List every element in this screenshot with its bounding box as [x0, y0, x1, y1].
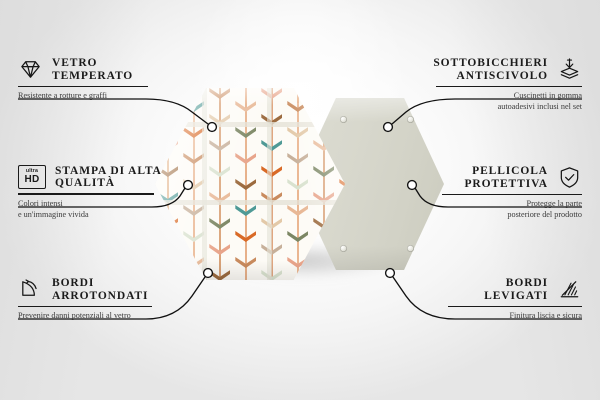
leader-endpoint-vetro-temperato — [208, 123, 217, 132]
callout-header: ultra HD STAMPA DI ALTA QUALITÀ — [18, 165, 154, 189]
callout-subtitle: Cuscinetti in gomma autoadesivi inclusi … — [436, 90, 582, 112]
callout-title-line2: TEMPERATO — [52, 70, 133, 82]
ultra-hd-big-label: HD — [24, 175, 39, 185]
callout-titles: SOTTOBICCHIERI ANTISCIVOLO — [433, 57, 548, 81]
callout-bordi-levigati: BORDI LEVIGATI Finitura liscia e sicura — [448, 277, 582, 321]
callout-titles: BORDI LEVIGATI — [484, 277, 548, 301]
callout-title-line1: SOTTOBICCHIERI — [433, 57, 548, 69]
callout-title-line1: STAMPA DI ALTA — [55, 165, 162, 177]
leader-endpoint-bordi-arrotondati — [204, 269, 213, 278]
callout-title-line2: LEVIGATI — [484, 290, 548, 302]
shield-check-icon — [557, 165, 582, 190]
callout-header: VETRO TEMPERATO — [18, 57, 148, 82]
callout-subtitle: Protegge la parte posteriore del prodott… — [442, 198, 582, 220]
callout-title-line1: VETRO — [52, 57, 133, 69]
leader-endpoint-pellicola — [408, 181, 417, 190]
callout-rule — [448, 306, 582, 307]
leader-endpoint-bordi-levigati — [386, 269, 395, 278]
ultra-hd-badge-icon: ultra HD — [18, 165, 46, 189]
leader-endpoint-sottobicchieri — [384, 123, 393, 132]
callout-subtitle: Colori intensi e un'immagine vivida — [18, 198, 154, 220]
diamond-icon — [18, 57, 43, 82]
callout-header: BORDI ARROTONDATI — [18, 277, 152, 302]
callout-titles: STAMPA DI ALTA QUALITÀ — [55, 165, 162, 189]
callout-rule — [442, 194, 582, 195]
callout-pellicola-protettiva: PELLICOLA PROTETTIVA Protegge la parte p… — [442, 165, 582, 220]
rounded-corner-icon — [18, 277, 43, 302]
callout-stampa-alta-qualita: ultra HD STAMPA DI ALTA QUALITÀ Colori i… — [18, 165, 154, 220]
leader-line-vetro-temperato — [18, 99, 208, 124]
callout-title-line1: BORDI — [52, 277, 148, 289]
infographic-canvas: VETRO TEMPERATO Resistente a rotture e g… — [0, 0, 600, 400]
leader-endpoint-stampa — [184, 181, 193, 190]
callout-title-line2: QUALITÀ — [55, 177, 162, 189]
callout-rule — [18, 306, 152, 307]
callout-titles: VETRO TEMPERATO — [52, 57, 133, 81]
callout-rule — [18, 193, 154, 194]
callout-title-line2: PROTETTIVA — [464, 178, 548, 190]
callout-header: BORDI LEVIGATI — [448, 277, 582, 302]
callout-title-line1: PELLICOLA — [472, 165, 548, 177]
callout-header: PELLICOLA PROTETTIVA — [442, 165, 582, 190]
callout-subtitle: Resistente a rotture e graffi — [18, 90, 148, 101]
callout-title-line1: BORDI — [506, 277, 548, 289]
callout-vetro-temperato: VETRO TEMPERATO Resistente a rotture e g… — [18, 57, 148, 101]
hatched-triangle-icon — [557, 277, 582, 302]
callout-title-line2: ARROTONDATI — [52, 290, 148, 302]
callout-subtitle: Prevenire danni potenziali al vetro — [18, 310, 152, 321]
callout-titles: PELLICOLA PROTETTIVA — [464, 165, 548, 189]
callout-sottobicchieri-antiscivolo: SOTTOBICCHIERI ANTISCIVOLO Cuscinetti in… — [436, 57, 582, 112]
callout-titles: BORDI ARROTONDATI — [52, 277, 148, 301]
callout-rule — [436, 86, 582, 87]
callout-bordi-arrotondati: BORDI ARROTONDATI Prevenire danni potenz… — [18, 277, 152, 321]
callout-title-line2: ANTISCIVOLO — [457, 70, 548, 82]
callout-header: SOTTOBICCHIERI ANTISCIVOLO — [436, 57, 582, 82]
callout-subtitle: Finitura liscia e sicura — [448, 310, 582, 321]
stacked-pad-arrow-icon — [557, 57, 582, 82]
callout-rule — [18, 86, 148, 87]
